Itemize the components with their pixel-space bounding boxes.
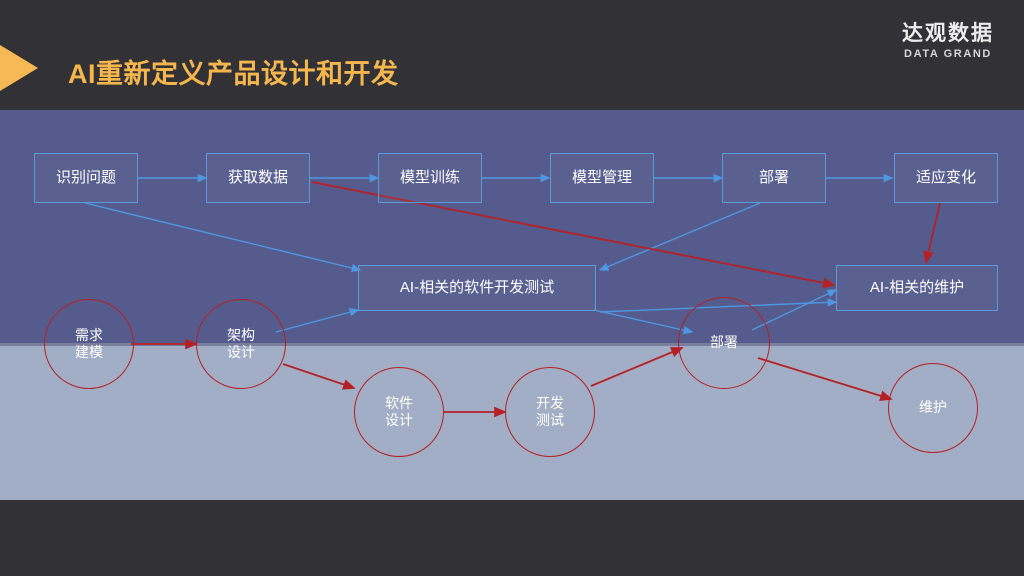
footer-band [0,500,1024,576]
box-label: 获取数据 [228,169,288,188]
circle-requirement-modeling[interactable]: 需求 建模 [44,299,134,389]
box-label: 部署 [759,169,789,188]
brand-logo: 达观数据 DATA GRAND [902,22,994,60]
logo-chinese-text: 达观数据 [902,22,994,46]
box-model-management[interactable]: 模型管理 [550,153,654,203]
circle-label-line2: 建模 [75,344,103,362]
slide-canvas: AI重新定义产品设计和开发 达观数据 DATA GRAND [0,0,1024,576]
circle-label-line1: 软件 [385,395,413,413]
box-deploy[interactable]: 部署 [722,153,826,203]
page-title: AI重新定义产品设计和开发 [68,52,399,91]
circle-development-testing[interactable]: 开发 测试 [505,367,595,457]
box-acquire-data[interactable]: 获取数据 [206,153,310,203]
circle-software-design[interactable]: 软件 设计 [354,367,444,457]
box-ai-maintenance[interactable]: AI-相关的维护 [836,265,998,311]
box-label: 模型训练 [400,169,460,188]
circle-label-line1: 维护 [919,399,947,417]
circle-maintenance[interactable]: 维护 [888,363,978,453]
box-label: 模型管理 [572,169,632,188]
circle-label-line1: 部署 [710,334,738,352]
chevron-right-triangle-icon [0,45,38,91]
circle-label-line2: 设计 [227,344,255,362]
box-model-training[interactable]: 模型训练 [378,153,482,203]
box-ai-software-dev-test[interactable]: AI-相关的软件开发测试 [358,265,596,311]
circle-deploy[interactable]: 部署 [678,297,770,389]
slide-header: AI重新定义产品设计和开发 达观数据 DATA GRAND [0,0,1024,110]
circle-label-line1: 架构 [227,327,255,345]
logo-english-text: DATA GRAND [902,48,994,60]
circle-label-line2: 设计 [385,412,413,430]
circle-label-line2: 测试 [536,412,564,430]
box-identify-problem[interactable]: 识别问题 [34,153,138,203]
box-label: AI-相关的维护 [870,279,964,298]
circle-architecture-design[interactable]: 架构 设计 [196,299,286,389]
circle-label-line1: 需求 [75,327,103,345]
box-label: AI-相关的软件开发测试 [400,279,554,298]
box-adapt-change[interactable]: 适应变化 [894,153,998,203]
box-label: 适应变化 [916,169,976,188]
box-label: 识别问题 [56,169,116,188]
circle-label-line1: 开发 [536,395,564,413]
